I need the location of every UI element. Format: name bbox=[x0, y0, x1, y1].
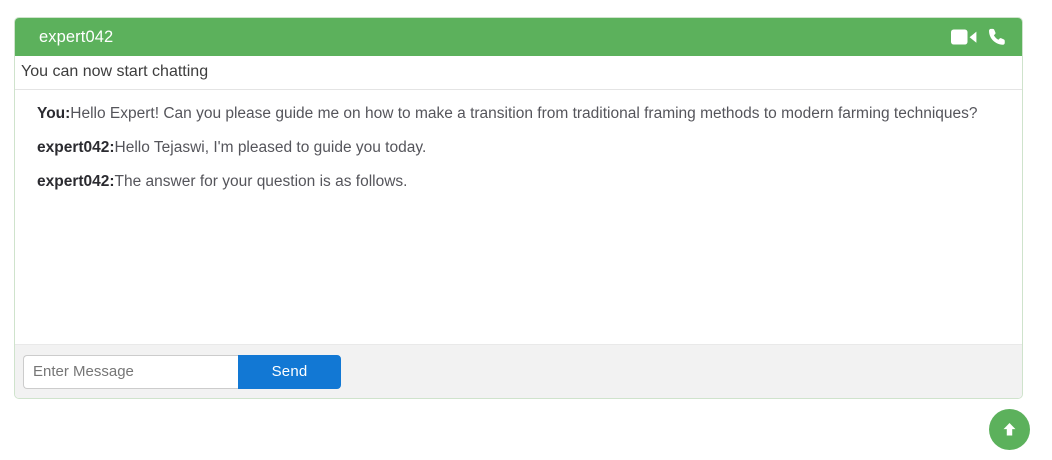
send-button[interactable]: Send bbox=[238, 355, 341, 389]
chat-message: You:Hello Expert! Can you please guide m… bbox=[29, 102, 1008, 126]
arrow-up-icon bbox=[1001, 421, 1018, 438]
video-call-icon[interactable] bbox=[951, 27, 977, 47]
message-sender: expert042: bbox=[37, 139, 115, 156]
message-text: Hello Tejaswi, I'm pleased to guide you … bbox=[115, 139, 427, 156]
chat-composer-bar: Send bbox=[15, 344, 1022, 398]
chat-window: expert042 You can now start chatting bbox=[14, 17, 1023, 399]
message-text: The answer for your question is as follo… bbox=[115, 173, 408, 190]
message-sender: expert042: bbox=[37, 173, 115, 190]
page-root: expert042 You can now start chatting bbox=[0, 0, 1052, 460]
phone-call-icon[interactable] bbox=[987, 27, 1008, 48]
message-composer: Send bbox=[23, 355, 341, 389]
chat-header-actions bbox=[951, 27, 1008, 48]
scroll-to-top-button[interactable] bbox=[989, 409, 1030, 450]
message-sender: You: bbox=[37, 105, 70, 122]
chat-message: expert042:The answer for your question i… bbox=[29, 170, 1008, 194]
chat-partner-name: expert042 bbox=[39, 29, 113, 46]
chat-status-text: You can now start chatting bbox=[15, 56, 1022, 90]
chat-message: expert042:Hello Tejaswi, I'm pleased to … bbox=[29, 136, 1008, 160]
message-list: You:Hello Expert! Can you please guide m… bbox=[15, 90, 1022, 344]
message-text: Hello Expert! Can you please guide me on… bbox=[70, 105, 977, 122]
chat-header: expert042 bbox=[15, 18, 1022, 56]
message-input[interactable] bbox=[23, 355, 238, 389]
